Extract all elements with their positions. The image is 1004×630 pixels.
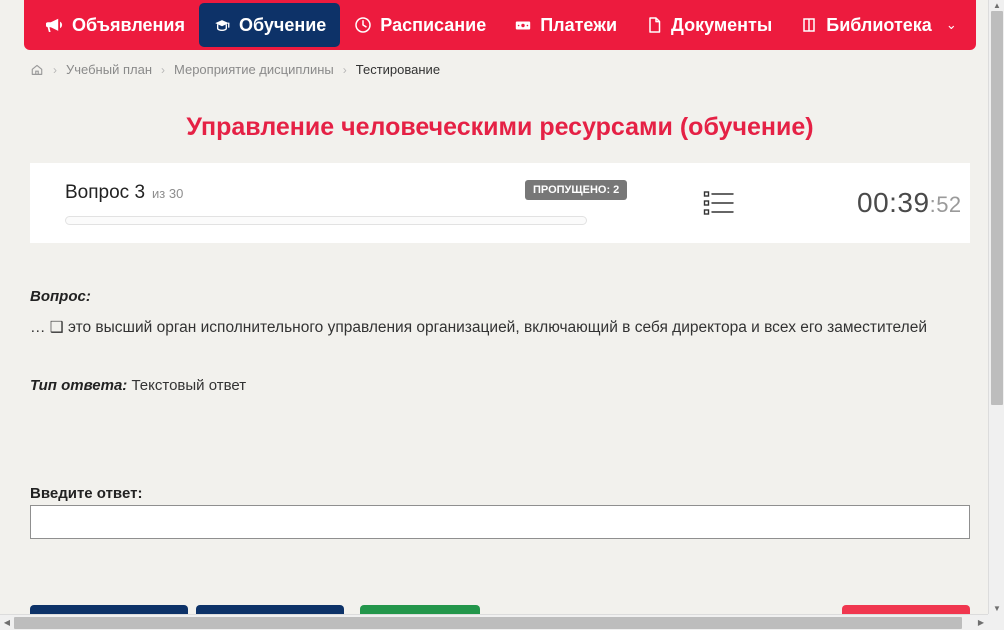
test-timer: 00:39:52 <box>857 187 962 219</box>
question-text: … ❑ это высший орган исполнительного упр… <box>30 315 930 341</box>
nav-label: Расписание <box>380 15 486 36</box>
scroll-down-arrow[interactable]: ▼ <box>989 603 1004 614</box>
nav-item-payments[interactable]: Платежи <box>500 0 631 50</box>
answer-input[interactable] <box>30 505 970 539</box>
vertical-scrollbar-thumb[interactable] <box>991 11 1003 405</box>
answer-button[interactable]: ОТВЕТИТЬ <box>360 605 480 614</box>
question-list-icon[interactable] <box>703 189 735 217</box>
nav-label: Библиотека <box>826 15 932 36</box>
nav-item-announcements[interactable]: Объявления <box>24 0 199 50</box>
horizontal-scrollbar[interactable]: ◀ ▶ <box>0 614 1004 630</box>
home-icon[interactable] <box>30 63 44 77</box>
megaphone-icon <box>46 16 64 34</box>
skipped-badge: ПРОПУЩЕНО: 2 <box>525 180 627 200</box>
breadcrumb-separator: › <box>343 63 347 77</box>
timer-main: 00:39 <box>857 187 930 218</box>
main-navigation: Объявления Обучение <box>24 0 976 50</box>
graduation-cap-icon <box>213 16 231 34</box>
scroll-left-arrow[interactable]: ◀ <box>0 615 14 630</box>
finish-test-button[interactable]: ЗАВЕРШИТЬ ТЕСТ <box>842 605 970 614</box>
scroll-up-arrow[interactable]: ▲ <box>989 0 1004 11</box>
scroll-right-arrow[interactable]: ▶ <box>974 615 988 630</box>
breadcrumb-item-curriculum[interactable]: Учебный план <box>66 62 152 77</box>
breadcrumb-separator: › <box>53 63 57 77</box>
nav-label: Документы <box>671 15 772 36</box>
browser-page: Объявления Обучение <box>0 0 1004 630</box>
nav-label: Платежи <box>540 15 617 36</box>
question-progress-section: Вопрос 3 из 30 ПРОПУЩЕНО: 2 <box>65 182 625 225</box>
vertical-scrollbar[interactable]: ▲ ▼ <box>988 0 1004 630</box>
scroll-right-glyph: ▶ <box>978 619 984 627</box>
question-content: Вопрос: … ❑ это высший орган исполнитель… <box>30 288 970 394</box>
breadcrumb-separator: › <box>161 63 165 77</box>
answer-type-label: Тип ответа: <box>30 377 127 394</box>
scroll-left-glyph: ◀ <box>4 619 10 627</box>
page-viewport: Объявления Обучение <box>0 0 988 614</box>
scroll-up-glyph: ▲ <box>993 2 1001 10</box>
book-icon <box>800 16 818 34</box>
answer-type-value: Текстовый ответ <box>131 377 246 394</box>
document-icon <box>645 16 663 34</box>
breadcrumb: › Учебный план › Мероприятие дисциплины … <box>30 62 440 77</box>
progress-bar <box>65 216 587 225</box>
breadcrumb-item-discipline-event[interactable]: Мероприятие дисциплины <box>174 62 334 77</box>
scroll-down-glyph: ▼ <box>993 605 1001 613</box>
action-buttons: ПРЕДЫДУЩИЙ ВОПРОС ПРОПУСТИТЬ ВОПРОС ОТВЕ… <box>30 605 970 614</box>
chevron-down-icon[interactable]: ⌄ <box>946 17 957 33</box>
scrollbar-corner <box>988 614 1004 630</box>
question-status-card: Вопрос 3 из 30 ПРОПУЩЕНО: 2 00:39:52 <box>30 163 970 243</box>
nav-item-learning[interactable]: Обучение <box>199 3 340 47</box>
skip-question-button[interactable]: ПРОПУСТИТЬ ВОПРОС <box>196 605 344 614</box>
nav-label: Объявления <box>72 15 185 36</box>
breadcrumb-item-testing: Тестирование <box>356 62 440 77</box>
question-number: Вопрос 3 <box>65 182 145 204</box>
timer-seconds: :52 <box>930 192 962 217</box>
nav-label: Обучение <box>239 15 326 36</box>
question-label: Вопрос: <box>30 288 970 305</box>
banknote-icon <box>514 16 532 34</box>
previous-question-button[interactable]: ПРЕДЫДУЩИЙ ВОПРОС <box>30 605 188 614</box>
page-title: Управление человеческими ресурсами (обуч… <box>0 113 988 142</box>
question-total: из 30 <box>152 186 183 201</box>
answer-input-label: Введите ответ: <box>30 485 142 502</box>
nav-item-documents[interactable]: Документы <box>631 0 786 50</box>
horizontal-scrollbar-thumb[interactable] <box>14 617 962 629</box>
answer-type-row: Тип ответа: Текстовый ответ <box>30 377 970 394</box>
nav-item-library[interactable]: Библиотека ⌄ <box>786 0 970 50</box>
clock-icon <box>354 16 372 34</box>
nav-item-schedule[interactable]: Расписание <box>340 0 500 50</box>
